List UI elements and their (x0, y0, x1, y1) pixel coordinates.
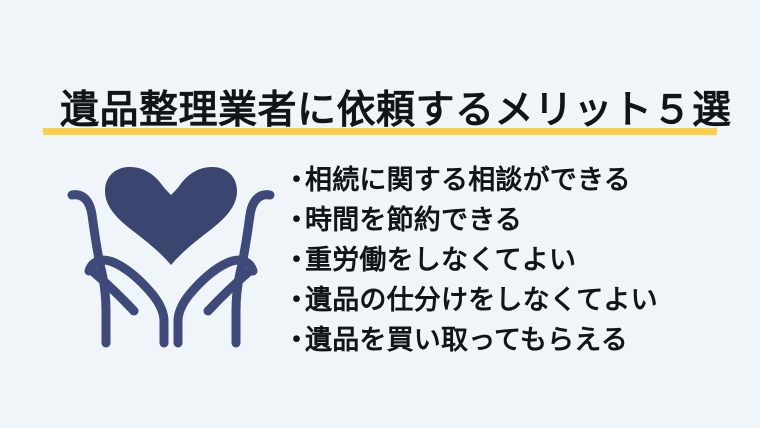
list-item: ・ 時間を節約できる (283, 200, 723, 240)
hands-holding-heart-icon (58, 165, 284, 351)
title-divider (43, 128, 717, 135)
list-item-label: 遺品の仕分けをしなくてよい (305, 280, 658, 320)
slide-canvas: 遺品整理業者に依頼するメリット５選 ・ 相続に関する相談ができる ・ (0, 0, 760, 428)
list-item-label: 時間を節約できる (305, 200, 522, 240)
list-item-label: 重労働をしなくてよい (305, 240, 576, 280)
list-item: ・ 遺品の仕分けをしなくてよい (283, 280, 723, 320)
list-item: ・ 遺品を買い取ってもらえる (283, 320, 723, 360)
bullet-icon: ・ (283, 200, 305, 240)
bullet-icon: ・ (283, 280, 305, 320)
list-item-label: 相続に関する相談ができる (305, 160, 631, 200)
bullet-icon: ・ (283, 160, 305, 200)
bullet-icon: ・ (283, 320, 305, 360)
list-item: ・ 相続に関する相談ができる (283, 160, 723, 200)
benefits-list: ・ 相続に関する相談ができる ・ 時間を節約できる ・ 重労働をしなくてよい ・… (283, 160, 723, 360)
list-item: ・ 重労働をしなくてよい (283, 240, 723, 280)
list-item-label: 遺品を買い取ってもらえる (305, 320, 628, 360)
bullet-icon: ・ (283, 240, 305, 280)
heart-shape (105, 167, 237, 265)
